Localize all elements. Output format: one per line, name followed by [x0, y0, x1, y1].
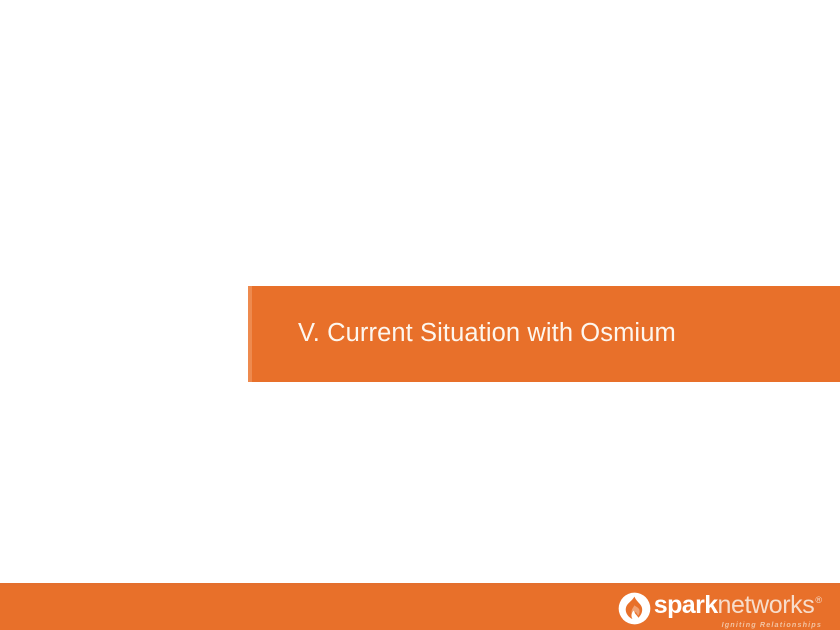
spark-flame-icon: [618, 592, 651, 625]
footer-bar: spark networks ® Igniting Relationships: [0, 583, 840, 630]
footer-top-edge: [0, 583, 840, 586]
page-title: V. Current Situation with Osmium: [298, 321, 676, 347]
logo-wordmark: spark networks ®: [654, 593, 822, 618]
section-title-band: V. Current Situation with Osmium: [248, 286, 840, 382]
logo-tagline: Igniting Relationships: [722, 620, 822, 629]
logo-word-spark: spark: [654, 593, 718, 618]
slide: V. Current Situation with Osmium spark n…: [0, 0, 840, 630]
logo-word-networks: networks: [718, 593, 815, 618]
registered-trademark-icon: ®: [815, 596, 822, 605]
title-band-left-accent: [248, 286, 252, 382]
logo-text: spark networks ® Igniting Relationships: [654, 591, 822, 629]
sparknetworks-logo: spark networks ® Igniting Relationships: [618, 591, 822, 629]
